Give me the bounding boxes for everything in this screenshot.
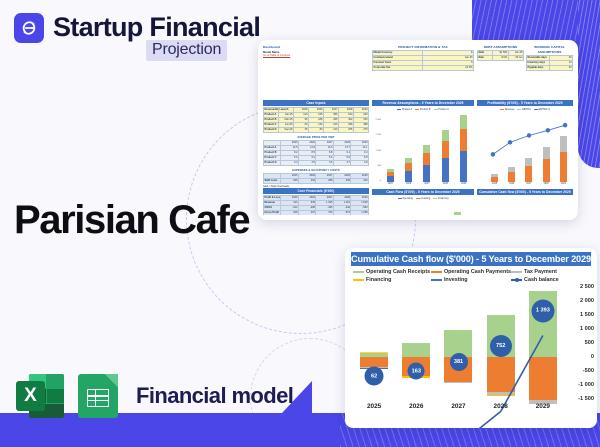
brand-subtitle-badge: Projection (146, 40, 227, 61)
y-tick-label: -1 500 (578, 396, 594, 402)
y-tick-label: 0 (591, 354, 594, 360)
section-bar: Profitability ($'000) - 5 Years to Decem… (477, 100, 573, 106)
dashboard-panel-tables: Case Inputs Revenue/GrowthLaunch20252026… (263, 100, 369, 215)
swirl-e-logo-icon (14, 13, 44, 43)
dashboard-toc-link[interactable]: Go to Table of Contents (263, 54, 369, 57)
dashboard-panel-project-info: PROJECT INFORMATION & TAX Model Currency… (372, 45, 474, 97)
legend-item[interactable]: Cash balance (511, 277, 589, 283)
mini-bar (460, 115, 467, 182)
diagonal-ray-pattern (578, 0, 600, 168)
legend-label: Operating Cash Receipts (366, 269, 430, 275)
mini-bar (525, 158, 532, 182)
section-bar: Revenue Assumptions - 5 Years to Decembe… (372, 100, 474, 106)
data-label-bubble: 163 (408, 363, 425, 380)
mini-bar (405, 158, 412, 182)
legend-item[interactable]: Tax Payment (511, 269, 589, 275)
google-sheets-icon (76, 372, 120, 420)
brand-header: Startup Financial (14, 12, 260, 43)
y-tick-label: 2 500 (580, 284, 594, 290)
mini-bar (454, 212, 461, 215)
y-tick-label: 1 000 (580, 326, 594, 332)
chart-bars-area: 62 163 381 752 1 393 (353, 287, 564, 399)
mini-bar (508, 167, 515, 182)
x-tick-label: 2029 (529, 403, 557, 410)
format-badges: X Financial model (16, 372, 293, 420)
y-tick-label: -500 (583, 368, 594, 374)
y-tick-label: 1 500 (580, 312, 594, 318)
legend-label: Financing (366, 277, 391, 283)
data-label-bubble: 1 393 (531, 299, 554, 322)
x-tick-label: 2025 (360, 403, 388, 410)
decorative-top-right-strip (578, 0, 600, 168)
mini-cashflow-chart: 202520262027 (372, 200, 474, 215)
mini-revenue-chart: 2 0001 5001 0005000 (372, 111, 474, 189)
chart-legend: Operating Cash Receipts Operating Cash P… (353, 269, 589, 283)
cumulative-cashflow-chart-card[interactable]: Cumulative Cash flow ($'000) - 5 Years t… (345, 248, 597, 428)
legend-swatch (353, 271, 364, 274)
excel-quadrant (47, 374, 64, 388)
format-label: Financial model (136, 383, 293, 409)
legend-swatch (431, 279, 442, 282)
mini-bar (423, 145, 430, 182)
mini-cumulative-chart (477, 196, 573, 215)
chart-title: Cumulative Cash flow ($'000) - 5 Years t… (351, 252, 591, 266)
y-tick-label: 2 000 (580, 298, 594, 304)
mini-y-axis: 2 0001 5001 0005000 (372, 119, 381, 182)
page-title: Parisian Cafe (14, 198, 249, 243)
legend-swatch (511, 271, 522, 274)
legend-item[interactable]: Financing (353, 277, 431, 283)
brand-name: Startup Financial (53, 12, 260, 43)
legend-swatch (431, 271, 442, 274)
mini-x-axis: 20252026202720282029 (486, 183, 572, 189)
price-table: 20252026202720282029 Product A12.512.913… (263, 140, 369, 166)
section-bar: Cash Flow ($'000) - 5 Years to December … (372, 189, 474, 195)
data-label-bubble: 381 (450, 353, 468, 371)
panel-title: DEBT ASSUMPTIONS (477, 45, 524, 50)
mini-bar (543, 147, 550, 182)
data-label-bubble: 752 (490, 335, 512, 357)
legend-line-marker (511, 279, 522, 280)
mini-bar (560, 136, 567, 182)
panel-table: Debt$1 500Jan-25 Rate8.0%60 mo (477, 50, 524, 61)
poster-canvas: Startup Financial Projection Parisian Ca… (0, 0, 600, 447)
section-bar: Cumulative Cash flow ($'000) - 5 Years t… (477, 189, 573, 195)
dashboard-heading-panel: Dashboard Model Name Go to Table of Cont… (263, 45, 369, 97)
excel-x-glyph: X (16, 381, 45, 411)
mini-bar (442, 130, 449, 182)
legend-label: Operating Cash Payments (444, 269, 511, 275)
legend-swatch (353, 279, 364, 282)
section-bar: Case Inputs (263, 100, 369, 106)
x-tick-label: 2026 (402, 403, 430, 410)
chart-y-axis: 2 500 2 000 1 500 1 000 500 0 -500 -1 00… (566, 287, 594, 399)
x-tick-label: 2028 (487, 403, 515, 410)
mini-x-axis: 20252026202720282029 (381, 183, 473, 189)
dashboard-panel-cashflow-chart: Profitability ($'000) - 5 Years to Decem… (477, 100, 573, 215)
chart-x-axis: 2025 2026 2027 2028 2029 (353, 403, 564, 410)
legend-item[interactable]: Operating Cash Payments (431, 269, 511, 275)
chart-plot-area: 2 500 2 000 1 500 1 000 500 0 -500 -1 00… (349, 287, 595, 415)
panel-title: WORKING CAPITAL ASSUMPTIONS (526, 45, 573, 55)
panel-table: Receivable days30 Inventory days14 Payab… (526, 55, 573, 71)
legend-label: Tax Payment (524, 269, 557, 275)
core-financials-table: Profit & Loss20252026202720282029 Revenu… (263, 195, 369, 215)
legend-item[interactable]: Operating Cash Receipts (353, 269, 431, 275)
sheets-fold-shade (105, 374, 118, 387)
excel-quadrant (47, 389, 64, 403)
expense-table: 20252026202720282029 Staff costs18523228… (263, 173, 369, 184)
y-tick-label: -1 000 (578, 382, 594, 388)
mini-bar (387, 169, 394, 182)
dashboard-panel-revenue-chart: Revenue Assumptions - 5 Years to Decembe… (372, 100, 474, 215)
y-tick-label: 500 (585, 340, 594, 346)
data-label-bubble: 62 (365, 367, 384, 386)
dashboard-panel-debt-wc: DEBT ASSUMPTIONS Debt$1 500Jan-25 Rate8.… (477, 45, 573, 97)
dashboard-preview-card[interactable]: Dashboard Model Name Go to Table of Cont… (258, 40, 578, 220)
sheets-grid-glyph (87, 389, 109, 407)
legend-label: Cash balance (524, 277, 559, 283)
section-bar: Core Financials ($'000) (263, 188, 369, 194)
mini-bar (491, 174, 498, 182)
x-tick-label: 2027 (444, 403, 472, 410)
panel-table: Model Currency$ CommencementJan-25 Forec… (372, 50, 474, 71)
legend-label: Investing (444, 277, 468, 283)
mini-profit-chart: 20252026202720282029 (477, 111, 573, 189)
microsoft-excel-icon: X (16, 372, 64, 420)
legend-item[interactable]: Investing (431, 277, 511, 283)
case-inputs-table: Revenue/GrowthLaunch20252026202720282029… (263, 107, 369, 133)
